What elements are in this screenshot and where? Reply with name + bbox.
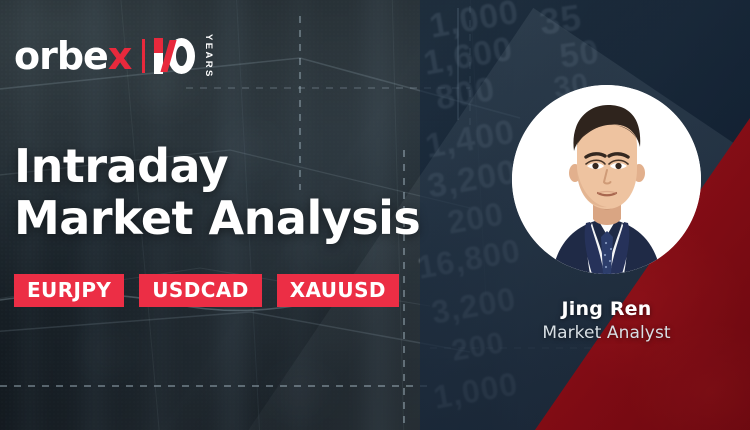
logo-divider-bar [142, 39, 145, 73]
page-title-line-2: Market Analysis [14, 192, 420, 244]
orbex-wordmark: orbex [14, 37, 131, 75]
page-title-line-1: Intraday [14, 140, 420, 192]
anniversary-10-mark [154, 38, 198, 74]
instrument-badge-eurjpy[interactable]: EURJPY [14, 274, 124, 307]
orbex-wordmark-text: orbe [14, 37, 108, 75]
anniversary-years-label: YEARS [203, 34, 213, 79]
analyst-name: Jing Ren [491, 298, 722, 322]
avatar [512, 85, 701, 274]
instrument-badge-xauusd[interactable]: XAUUSD [277, 274, 399, 307]
analyst-info: Jing Ren Market Analyst [491, 298, 722, 345]
anniversary-digit-one-accent [154, 38, 163, 53]
analyst-portrait-illustration [512, 85, 701, 274]
instrument-badge-list: EURJPYUSDCADXAUUSD [14, 274, 399, 307]
orbex-logo[interactable]: orbex YEARS [14, 34, 213, 78]
orbex-wordmark-accent: x [108, 37, 132, 75]
orbex-market-analysis-banner: 1,0001,6008001,4003,20020016,8003,200200… [0, 0, 750, 430]
page-title: Intraday Market Analysis [14, 140, 420, 245]
analyst-role: Market Analyst [491, 322, 722, 345]
instrument-badge-usdcad[interactable]: USDCAD [139, 274, 261, 307]
